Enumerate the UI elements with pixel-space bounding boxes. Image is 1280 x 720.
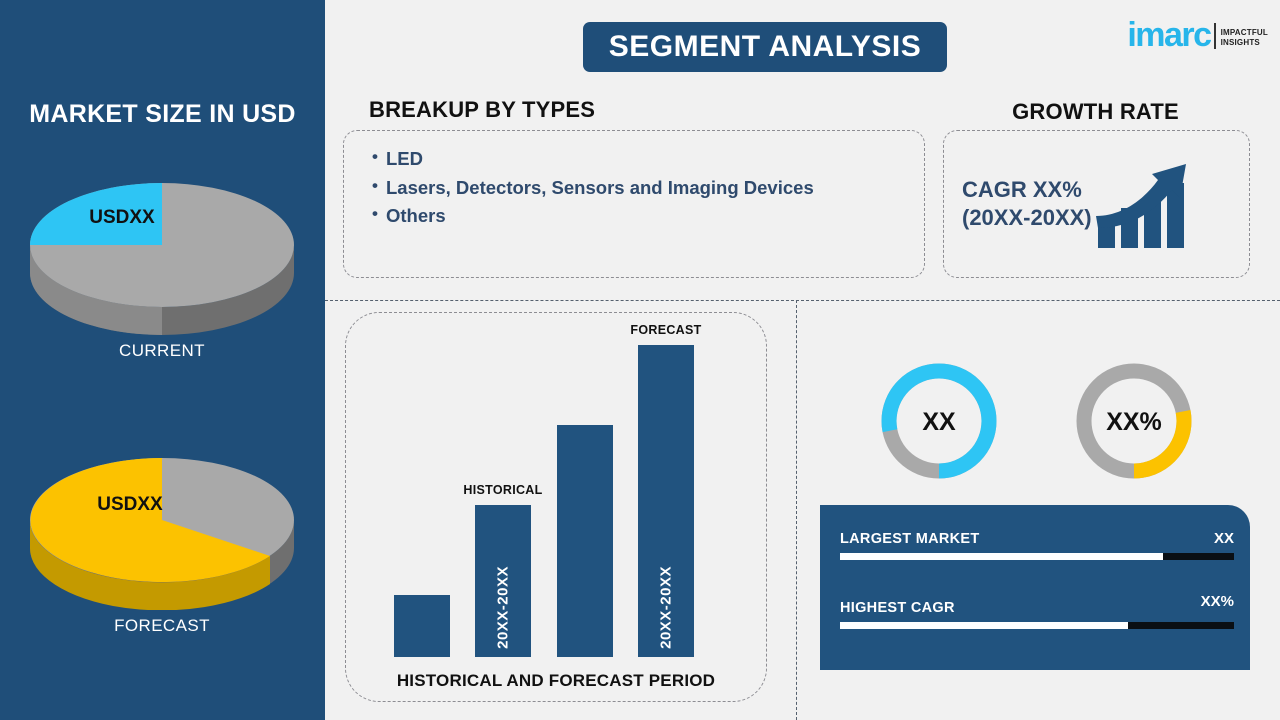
cagr-line-2: (20XX-20XX) — [962, 204, 1092, 232]
types-list: LED Lasers, Detectors, Sensors and Imagi… — [344, 131, 924, 231]
cagr-line-1: CAGR XX% — [962, 176, 1092, 204]
breakup-by-types-heading: BREAKUP BY TYPES — [369, 97, 595, 123]
bar-4-period-label: 20XX-20XX — [638, 566, 694, 649]
stat-row-largest-market: LARGEST MARKET XX — [840, 530, 1234, 560]
top-panels-row: BREAKUP BY TYPES LED Lasers, Detectors, … — [325, 88, 1280, 300]
highest-cagr-label: HIGHEST CAGR — [840, 600, 955, 616]
bar-chart-bars: HISTORICAL 20XX-20XX FORECAST 20XX-20XX — [346, 337, 766, 657]
cagr-text: CAGR XX% (20XX-20XX) — [962, 176, 1092, 232]
forecast-market-size-pie: USDXX FORECAST — [22, 430, 302, 636]
donut-chart-1: XX — [876, 358, 1002, 484]
donut-chart-2: XX% — [1071, 358, 1197, 484]
growth-rate-heading: GROWTH RATE — [943, 99, 1248, 125]
bar-1 — [394, 595, 450, 657]
largest-market-donut: XX — [876, 358, 1002, 489]
historical-forecast-bar-chart: HISTORICAL 20XX-20XX FORECAST 20XX-20XX … — [345, 312, 767, 702]
segment-analysis-infographic: MARKET SIZE IN USD USDXX CURRENT — [0, 0, 1280, 720]
horizontal-divider — [325, 300, 1280, 301]
market-size-sidebar: MARKET SIZE IN USD USDXX CURRENT — [0, 0, 325, 720]
growth-bar-arrow-icon — [1094, 158, 1190, 250]
logo-tagline-line1: IMPACTFUL — [1221, 28, 1268, 38]
imarc-logo: imarc IMPACTFUL INSIGHTS — [1127, 10, 1268, 52]
sidebar-title: MARKET SIZE IN USD — [0, 100, 325, 129]
highest-cagr-value: XX% — [1201, 593, 1234, 610]
highest-cagr-donut: XX% — [1071, 358, 1197, 489]
growth-rate-box: CAGR XX% (20XX-20XX) — [943, 130, 1250, 278]
logo-tagline: IMPACTFUL INSIGHTS — [1221, 28, 1268, 48]
largest-market-label: LARGEST MARKET — [840, 531, 980, 547]
bar-2: 20XX-20XX — [475, 505, 531, 657]
market-stats-panel: LARGEST MARKET XX HIGHEST CAGR XX% — [820, 505, 1250, 670]
pie-caption-current: CURRENT — [22, 341, 302, 361]
largest-market-progress-track — [840, 553, 1234, 560]
bar-chart-axis-label: HISTORICAL AND FORECAST PERIOD — [346, 671, 766, 691]
logo-wordmark: imarc — [1127, 18, 1210, 52]
pie-caption-forecast: FORECAST — [22, 616, 302, 636]
current-market-size-pie: USDXX CURRENT — [22, 155, 302, 361]
highest-cagr-progress-track — [840, 622, 1234, 629]
highest-cagr-progress-fill — [840, 622, 1128, 629]
forecast-label: FORECAST — [608, 323, 724, 337]
pie-3d-current: USDXX — [22, 155, 302, 335]
list-item: Lasers, Detectors, Sensors and Imaging D… — [372, 174, 924, 203]
donut-2-center-label: XX% — [1106, 408, 1162, 436]
bar-2-period-label: 20XX-20XX — [475, 566, 531, 649]
largest-market-progress-fill — [840, 553, 1163, 560]
pie-3d-forecast: USDXX — [22, 430, 302, 610]
pie-slice-label: USDXX — [97, 494, 163, 515]
breakup-by-types-box: LED Lasers, Detectors, Sensors and Imagi… — [343, 130, 925, 278]
logo-tagline-line2: INSIGHTS — [1221, 38, 1268, 48]
page-title: SEGMENT ANALYSIS — [583, 22, 947, 72]
logo-divider — [1214, 23, 1216, 49]
vertical-divider — [796, 300, 797, 720]
header-bar: SEGMENT ANALYSIS imarc IMPACTFUL INSIGHT… — [325, 0, 1280, 90]
pie-slice-label: USDXX — [89, 207, 155, 228]
largest-market-value: XX — [1214, 530, 1234, 547]
stat-row-highest-cagr: HIGHEST CAGR XX% — [840, 599, 1234, 629]
list-item: LED — [372, 145, 924, 174]
donut-1-center-label: XX — [922, 408, 956, 436]
list-item: Others — [372, 202, 924, 231]
bar-3 — [557, 425, 613, 657]
historical-label: HISTORICAL — [445, 483, 561, 497]
bar-4: 20XX-20XX — [638, 345, 694, 657]
